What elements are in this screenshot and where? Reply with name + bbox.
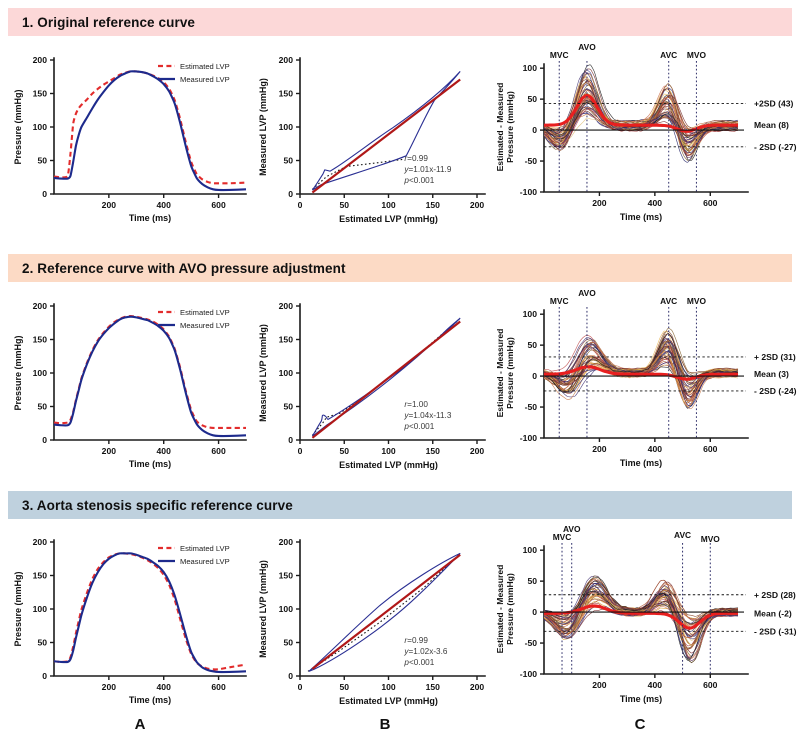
svg-text:Time (ms): Time (ms) <box>620 694 662 704</box>
svg-text:100: 100 <box>523 309 538 319</box>
column-label-c: C <box>600 716 680 733</box>
svg-text:400: 400 <box>648 198 663 208</box>
svg-text:150: 150 <box>426 200 441 210</box>
svg-text:0: 0 <box>532 125 537 135</box>
svg-text:Measured LVP: Measured LVP <box>180 557 230 566</box>
svg-text:MVO: MVO <box>687 296 707 306</box>
svg-text:-100: -100 <box>520 669 537 679</box>
svg-text:100: 100 <box>381 446 396 456</box>
svg-text:100: 100 <box>523 63 538 73</box>
svg-text:Pressure (mmHg): Pressure (mmHg) <box>13 335 23 410</box>
svg-text:50: 50 <box>527 340 537 350</box>
svg-text:100: 100 <box>381 682 396 692</box>
svg-text:Time (ms): Time (ms) <box>129 695 171 705</box>
chart-3c: -100-50050100200400600Time (ms)Estimated… <box>488 524 800 729</box>
svg-text:400: 400 <box>648 444 663 454</box>
svg-text:600: 600 <box>703 198 718 208</box>
section-banner-1: 1. Original reference curve <box>8 8 792 36</box>
svg-text:Measured LVP (mmHg): Measured LVP (mmHg) <box>258 560 268 658</box>
section-banner-2: 2. Reference curve with AVO pressure adj… <box>8 254 792 282</box>
svg-text:50: 50 <box>339 446 349 456</box>
chart-1a: 050100150200200400600Time (ms)Pressure (… <box>8 42 258 247</box>
svg-text:0: 0 <box>532 371 537 381</box>
svg-text:0: 0 <box>288 671 293 681</box>
svg-text:-50: -50 <box>525 638 538 648</box>
svg-text:600: 600 <box>211 446 226 456</box>
svg-text:Mean (8): Mean (8) <box>754 120 789 130</box>
svg-text:100: 100 <box>33 604 48 614</box>
panel-1a-pressure-curves: 050100150200200400600Time (ms)Pressure (… <box>8 42 258 242</box>
svg-text:400: 400 <box>157 682 172 692</box>
svg-text:100: 100 <box>33 368 48 378</box>
svg-text:200: 200 <box>592 444 607 454</box>
svg-text:0: 0 <box>288 189 293 199</box>
svg-text:Estimated LVP (mmHg): Estimated LVP (mmHg) <box>339 696 438 706</box>
svg-text:AVO: AVO <box>578 42 596 52</box>
svg-text:- 2SD (-27): - 2SD (-27) <box>754 142 797 152</box>
svg-text:Estimated LVP (mmHg): Estimated LVP (mmHg) <box>339 460 438 470</box>
svg-text:600: 600 <box>211 200 226 210</box>
svg-text:-50: -50 <box>525 402 538 412</box>
svg-text:-100: -100 <box>520 433 537 443</box>
figure-row-3: 050100150200200400600Time (ms)Pressure (… <box>0 524 800 734</box>
svg-text:400: 400 <box>157 446 172 456</box>
chart-3a: 050100150200200400600Time (ms)Pressure (… <box>8 524 258 729</box>
svg-text:200: 200 <box>470 200 485 210</box>
svg-text:Estimated LVP (mmHg): Estimated LVP (mmHg) <box>339 214 438 224</box>
svg-text:r=1.00: r=1.00 <box>404 400 428 409</box>
svg-text:400: 400 <box>648 680 663 690</box>
svg-text:Pressure (mmHg): Pressure (mmHg) <box>13 571 23 646</box>
chart-3b: 050100150200050100150200Estimated LVP (m… <box>252 524 492 729</box>
panel-2c-bland-altman: -100-50050100200400600Time (ms)Estimated… <box>488 288 800 488</box>
svg-text:Pressure (mmHg): Pressure (mmHg) <box>13 89 23 164</box>
svg-text:150: 150 <box>279 89 294 99</box>
svg-text:150: 150 <box>426 682 441 692</box>
svg-text:0: 0 <box>532 607 537 617</box>
panel-3b-regression: 050100150200050100150200Estimated LVP (m… <box>252 524 492 724</box>
svg-text:100: 100 <box>279 604 294 614</box>
section-title-2: 2. Reference curve with AVO pressure adj… <box>8 261 346 276</box>
svg-text:200: 200 <box>592 680 607 690</box>
svg-text:Mean (-2): Mean (-2) <box>754 608 792 618</box>
svg-text:Estimated LVP: Estimated LVP <box>180 62 230 71</box>
svg-text:200: 200 <box>102 682 117 692</box>
svg-text:Measured LVP: Measured LVP <box>180 321 230 330</box>
svg-text:200: 200 <box>279 55 294 65</box>
chart-2b: 050100150200050100150200Estimated LVP (m… <box>252 288 492 493</box>
panel-2b-regression: 050100150200050100150200Estimated LVP (m… <box>252 288 492 488</box>
chart-1c: -100-50050100200400600Time (ms)Estimated… <box>488 42 800 247</box>
svg-text:150: 150 <box>426 446 441 456</box>
svg-text:Measured LVP (mmHg): Measured LVP (mmHg) <box>258 324 268 422</box>
svg-text:50: 50 <box>37 156 47 166</box>
svg-text:y=1.01x-11.9: y=1.01x-11.9 <box>403 165 451 174</box>
svg-text:Estimated - MeasuredPressure (: Estimated - MeasuredPressure (mmHg) <box>495 565 515 654</box>
chart-2a: 050100150200200400600Time (ms)Pressure (… <box>8 288 258 493</box>
svg-text:150: 150 <box>279 571 294 581</box>
svg-text:50: 50 <box>283 156 293 166</box>
svg-text:50: 50 <box>527 576 537 586</box>
svg-text:400: 400 <box>157 200 172 210</box>
svg-text:50: 50 <box>527 94 537 104</box>
svg-text:0: 0 <box>288 435 293 445</box>
svg-text:AVC: AVC <box>660 50 677 60</box>
svg-text:50: 50 <box>339 682 349 692</box>
svg-text:AVO: AVO <box>563 524 581 534</box>
panel-3a-pressure-curves: 050100150200200400600Time (ms)Pressure (… <box>8 524 258 724</box>
svg-text:AVC: AVC <box>660 296 677 306</box>
svg-text:Measured LVP (mmHg): Measured LVP (mmHg) <box>258 78 268 176</box>
svg-text:Estimated LVP: Estimated LVP <box>180 308 230 317</box>
svg-text:200: 200 <box>102 446 117 456</box>
svg-text:y=1.04x-11.3: y=1.04x-11.3 <box>403 411 451 420</box>
svg-text:+2SD (43): +2SD (43) <box>754 98 794 108</box>
svg-text:50: 50 <box>339 200 349 210</box>
svg-text:Measured LVP: Measured LVP <box>180 75 230 84</box>
svg-text:AVO: AVO <box>578 288 596 298</box>
svg-text:- 2SD (-24): - 2SD (-24) <box>754 386 797 396</box>
svg-text:150: 150 <box>33 89 48 99</box>
svg-text:p<0.001: p<0.001 <box>403 176 434 185</box>
svg-text:Mean (3): Mean (3) <box>754 369 789 379</box>
svg-text:MVC: MVC <box>550 50 569 60</box>
svg-text:600: 600 <box>211 682 226 692</box>
svg-text:-50: -50 <box>525 156 538 166</box>
svg-text:AVC: AVC <box>674 530 691 540</box>
svg-text:0: 0 <box>298 682 303 692</box>
chart-1b: 050100150200050100150200Estimated LVP (m… <box>252 42 492 247</box>
svg-text:r=0.99: r=0.99 <box>404 154 428 163</box>
svg-text:600: 600 <box>703 680 718 690</box>
svg-text:- 2SD (-31): - 2SD (-31) <box>754 626 797 636</box>
svg-text:0: 0 <box>42 189 47 199</box>
svg-text:50: 50 <box>283 402 293 412</box>
svg-text:0: 0 <box>42 435 47 445</box>
figure-row-2: 050100150200200400600Time (ms)Pressure (… <box>0 288 800 498</box>
svg-text:Time (ms): Time (ms) <box>620 212 662 222</box>
svg-text:Time (ms): Time (ms) <box>620 458 662 468</box>
figure-root: 1. Original reference curve 2. Reference… <box>0 0 800 739</box>
section-title-1: 1. Original reference curve <box>8 15 195 30</box>
chart-2c: -100-50050100200400600Time (ms)Estimated… <box>488 288 800 493</box>
section-title-3: 3. Aorta stenosis specific reference cur… <box>8 498 293 513</box>
panel-1b-regression: 050100150200050100150200Estimated LVP (m… <box>252 42 492 242</box>
svg-text:200: 200 <box>470 682 485 692</box>
panel-3c-bland-altman: -100-50050100200400600Time (ms)Estimated… <box>488 524 800 724</box>
svg-text:150: 150 <box>33 571 48 581</box>
svg-text:200: 200 <box>279 537 294 547</box>
svg-text:+ 2SD (31): + 2SD (31) <box>754 352 796 362</box>
column-label-a: A <box>100 716 180 733</box>
svg-text:50: 50 <box>37 638 47 648</box>
svg-text:MVO: MVO <box>687 50 707 60</box>
svg-text:Estimated - MeasuredPressure: Estimated - MeasuredPressure (mmHg) <box>495 83 515 172</box>
svg-text:200: 200 <box>33 301 48 311</box>
svg-text:50: 50 <box>283 638 293 648</box>
svg-text:Estimated LVP: Estimated LVP <box>180 544 230 553</box>
svg-text:Estimated - MeasuredPressure (: Estimated - MeasuredPressure (mmHg) <box>495 329 515 418</box>
svg-text:100: 100 <box>279 368 294 378</box>
svg-text:0: 0 <box>298 446 303 456</box>
svg-text:p<0.001: p<0.001 <box>403 422 434 431</box>
svg-text:200: 200 <box>279 301 294 311</box>
svg-text:200: 200 <box>33 537 48 547</box>
svg-text:p<0.001: p<0.001 <box>403 658 434 667</box>
svg-text:100: 100 <box>523 545 538 555</box>
svg-text:0: 0 <box>298 200 303 210</box>
svg-text:200: 200 <box>102 200 117 210</box>
svg-text:200: 200 <box>592 198 607 208</box>
svg-text:150: 150 <box>279 335 294 345</box>
svg-text:200: 200 <box>470 446 485 456</box>
svg-text:MVC: MVC <box>550 296 569 306</box>
svg-text:600: 600 <box>703 444 718 454</box>
svg-text:-100: -100 <box>520 187 537 197</box>
svg-text:y=1.02x-3.6: y=1.02x-3.6 <box>403 647 447 656</box>
svg-text:MVO: MVO <box>701 534 721 544</box>
svg-text:200: 200 <box>33 55 48 65</box>
svg-text:100: 100 <box>381 200 396 210</box>
svg-text:100: 100 <box>279 122 294 132</box>
column-label-b: B <box>345 716 425 733</box>
figure-row-1: 050100150200200400600Time (ms)Pressure (… <box>0 42 800 252</box>
svg-text:Time (ms): Time (ms) <box>129 459 171 469</box>
svg-text:+ 2SD (28): + 2SD (28) <box>754 590 796 600</box>
panel-2a-pressure-curves: 050100150200200400600Time (ms)Pressure (… <box>8 288 258 488</box>
svg-text:50: 50 <box>37 402 47 412</box>
svg-text:r=0.99: r=0.99 <box>404 636 428 645</box>
svg-text:Time (ms): Time (ms) <box>129 213 171 223</box>
panel-1c-bland-altman: -100-50050100200400600Time (ms)Estimated… <box>488 42 800 242</box>
svg-text:100: 100 <box>33 122 48 132</box>
svg-text:0: 0 <box>42 671 47 681</box>
svg-text:150: 150 <box>33 335 48 345</box>
